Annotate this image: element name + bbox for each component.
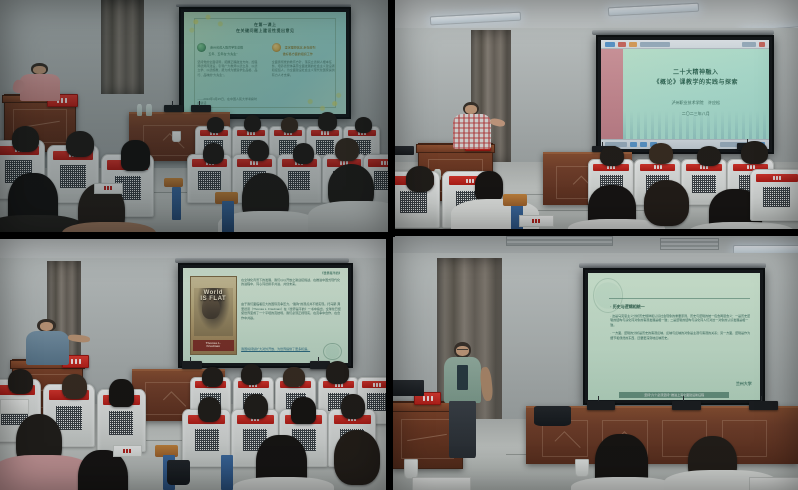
seat-qr-code [692, 175, 715, 193]
audience-head-foreground [334, 430, 381, 485]
paper-cup [575, 459, 589, 476]
floor-sign [94, 183, 123, 194]
seat-banner [311, 130, 339, 136]
audience-head [649, 143, 673, 164]
audience-head [318, 112, 338, 131]
lecture-hall-scene: 二十大精神融入 《概论》课教学的实践与探索 泸州职业技术学院 许应松 二〇二三年… [394, 0, 798, 231]
lecture-hall-scene: World IS FLAT Thomas L. Friedman 在全球化背景下… [0, 238, 388, 490]
collage-panel-bottom-right[interactable]: · 历史与逻辑相统一 · 这是马克思主义分析历史规律和认识社会现象的重要原则，历… [392, 235, 798, 490]
seat-qr-code [198, 171, 220, 190]
seat-leg [221, 455, 233, 490]
photo-collage: 在第一课上 在关键问题上建设性提出意见 贵州省成人教育学生总数 五年、五年在"大… [0, 0, 798, 490]
audience-head [203, 143, 224, 164]
audience-head [62, 374, 87, 399]
paper-cup [404, 459, 418, 479]
seat-qr-code [56, 406, 82, 430]
collage-divider-vertical-bottom [386, 232, 393, 490]
audience-head [244, 115, 262, 133]
audience-head [202, 367, 223, 387]
floor-sign [113, 445, 142, 457]
audience-shoulders [308, 201, 390, 234]
seat-qr-code [60, 165, 86, 187]
audience-head [12, 126, 39, 152]
floor-sign [519, 215, 553, 227]
handbag [167, 460, 190, 485]
audience-head [207, 117, 225, 133]
audience-head [697, 146, 721, 167]
audience-shoulders [233, 477, 334, 490]
audience-head [341, 394, 364, 419]
audience-head [291, 397, 316, 425]
collage-divider-horizontal-left [0, 232, 392, 239]
seat-armrest [164, 178, 184, 187]
seat-banner [362, 381, 388, 388]
audience-shoulders [571, 477, 677, 490]
audience-head [475, 171, 503, 201]
seat [750, 169, 798, 222]
collage-panel-bottom-left[interactable]: World IS FLAT Thomas L. Friedman 在全球化背景下… [0, 238, 388, 490]
seat-qr-code [400, 191, 427, 213]
audience-head [406, 166, 434, 191]
audience-head [600, 146, 624, 167]
lecture-hall-scene: · 历史与逻辑相统一 · 这是马克思主义分析历史规律和认识社会现象的重要原则，历… [392, 235, 798, 490]
audience-head [121, 140, 150, 170]
lecture-hall-scene: 在第一课上 在关键问题上建设性提出意见 贵州省成人教育学生总数 五年、五年在"大… [0, 0, 390, 234]
seat-qr-code [195, 429, 219, 451]
seat-banner [640, 164, 676, 171]
audience-head [8, 369, 33, 394]
seat-armrest [503, 194, 527, 206]
audience [0, 0, 390, 234]
seat-qr-code [763, 187, 790, 207]
audience-head [281, 117, 299, 133]
audience-head [355, 117, 373, 133]
seat-leg [222, 201, 234, 234]
audience-head [241, 364, 262, 385]
audience-head [293, 143, 314, 164]
audience-head [741, 141, 767, 164]
audience [394, 0, 798, 231]
audience-head [109, 379, 134, 407]
documents [412, 477, 471, 490]
audience-head [283, 367, 304, 387]
seat-qr-code [288, 171, 310, 190]
audience [392, 235, 798, 490]
seat-leg [172, 187, 182, 220]
seat-banner [368, 159, 390, 166]
seat-qr-code [109, 411, 133, 435]
collage-divider-vertical-top [388, 0, 395, 237]
audience-head [66, 131, 93, 157]
documents [0, 399, 29, 414]
audience-head [198, 397, 221, 422]
seat-qr-code [316, 140, 334, 155]
audience-head [248, 140, 269, 161]
audience-head [335, 138, 358, 161]
audience [0, 238, 388, 490]
audience-head [244, 394, 267, 419]
collage-panel-top-left[interactable]: 在第一课上 在关键问题上建设性提出意见 贵州省成人教育学生总数 五年、五年在"大… [0, 0, 390, 234]
audience-head [326, 361, 349, 384]
collage-panel-top-right[interactable]: 二十大精神融入 《概论》课教学的实践与探索 泸州职业技术学院 许应松 二〇二三年… [394, 0, 798, 231]
documents [749, 477, 798, 490]
audience-head-foreground [644, 180, 688, 226]
seat-banner [756, 174, 798, 182]
collage-divider-horizontal-right [391, 229, 798, 236]
